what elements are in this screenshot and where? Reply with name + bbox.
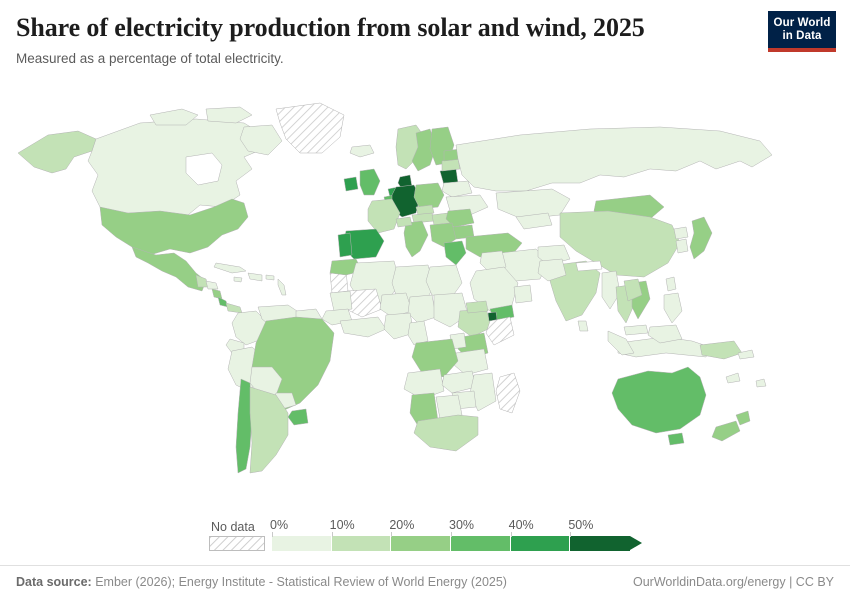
legend-bin-5[interactable] xyxy=(570,536,630,551)
legend-tick-mark-4 xyxy=(511,532,512,537)
country-cuba[interactable] xyxy=(214,263,246,273)
country-canada-arctic-2[interactable] xyxy=(206,107,252,123)
country-chile[interactable] xyxy=(236,379,252,473)
country-uruguay[interactable] xyxy=(288,409,308,425)
country-mauritania[interactable] xyxy=(330,291,352,311)
legend-tick-mark-5 xyxy=(570,532,571,537)
legend-no-data-label: No data xyxy=(211,520,255,534)
country-japan[interactable] xyxy=(690,217,712,259)
country-united-kingdom[interactable] xyxy=(360,169,380,195)
legend-color-bins xyxy=(272,536,630,551)
country-mexico[interactable] xyxy=(132,247,206,291)
legend-tick-mark-3 xyxy=(451,532,452,537)
country-hispaniola[interactable] xyxy=(248,273,262,281)
data-source-text: Ember (2026); Energy Institute - Statist… xyxy=(95,575,507,589)
country-nicaragua[interactable] xyxy=(212,289,222,299)
country-south-korea[interactable] xyxy=(676,239,688,253)
country-australia[interactable] xyxy=(612,367,706,433)
legend-bin-1[interactable] xyxy=(332,536,392,551)
legend-tick-label-5: 50% xyxy=(568,518,593,532)
country-kazakhstan[interactable] xyxy=(496,189,570,219)
owid-logo-line1: Our World xyxy=(772,17,832,30)
country-lesser-antilles[interactable] xyxy=(278,279,286,295)
country-oman[interactable] xyxy=(514,285,532,303)
legend-tick-label-4: 40% xyxy=(509,518,534,532)
country-new-zealand-south[interactable] xyxy=(712,421,740,441)
legend-tick-mark-0 xyxy=(272,532,273,537)
chart-subtitle: Measured as a percentage of total electr… xyxy=(16,50,834,67)
map-svg xyxy=(0,95,850,505)
world-choropleth-map[interactable] xyxy=(0,95,850,505)
chart-footer: Data source: Ember (2026); Energy Instit… xyxy=(0,565,850,600)
legend-tick-label-3: 30% xyxy=(449,518,474,532)
owid-logo-line2: in Data xyxy=(772,30,832,43)
country-eritrea[interactable] xyxy=(466,301,488,313)
country-chad[interactable] xyxy=(408,295,436,323)
legend-bin-2[interactable] xyxy=(391,536,451,551)
legend-tick-label-1: 10% xyxy=(330,518,355,532)
owid-logo[interactable]: Our World in Data xyxy=(768,11,836,52)
legend-bin-3[interactable] xyxy=(451,536,511,551)
country-somalia[interactable] xyxy=(486,317,514,345)
country-madagascar[interactable] xyxy=(496,373,520,413)
legend-tick-mark-1 xyxy=(332,532,333,537)
country-honduras[interactable] xyxy=(206,281,218,289)
country-portugal[interactable] xyxy=(338,233,352,257)
country-greece[interactable] xyxy=(444,241,466,265)
country-austria[interactable] xyxy=(412,213,434,223)
data-source: Data source: Ember (2026); Energy Instit… xyxy=(16,575,507,589)
country-tasmania[interactable] xyxy=(668,433,684,445)
data-source-label: Data source: xyxy=(16,575,92,589)
country-sri-lanka[interactable] xyxy=(578,321,588,331)
country-egypt[interactable] xyxy=(426,265,462,297)
country-malaysia[interactable] xyxy=(624,325,648,335)
country-italy[interactable] xyxy=(404,221,428,257)
legend-tick-label-2: 20% xyxy=(389,518,414,532)
legend-tick-label-0: 0% xyxy=(270,518,288,532)
country-cameroon[interactable] xyxy=(408,321,428,345)
country-france[interactable] xyxy=(368,199,400,233)
attribution-link[interactable]: OurWorldinData.org/energy | CC BY xyxy=(633,575,834,589)
country-greenland[interactable] xyxy=(276,103,344,153)
country-fiji[interactable] xyxy=(756,379,766,387)
country-ireland[interactable] xyxy=(344,177,358,191)
country-north-korea[interactable] xyxy=(674,227,688,239)
legend-open-ended-arrow xyxy=(630,536,642,550)
country-belarus[interactable] xyxy=(442,181,472,197)
country-philippines[interactable] xyxy=(664,293,682,323)
chart-header: Share of electricity production from sol… xyxy=(16,12,834,67)
country-taiwan[interactable] xyxy=(666,277,676,291)
no-data-hatch-icon xyxy=(210,537,264,550)
country-panama[interactable] xyxy=(226,303,242,313)
legend-bin-0[interactable] xyxy=(272,536,332,551)
country-switzerland[interactable] xyxy=(396,217,412,227)
country-puerto-rico[interactable] xyxy=(266,275,274,280)
map-legend: No data 0%10%20%30%40%50% xyxy=(0,508,850,556)
country-russia[interactable] xyxy=(456,127,772,191)
legend-bin-4[interactable] xyxy=(511,536,571,551)
map-countries xyxy=(18,103,772,473)
page-title: Share of electricity production from sol… xyxy=(16,12,834,44)
country-iceland[interactable] xyxy=(350,145,374,157)
country-new-zealand[interactable] xyxy=(736,411,750,425)
chart-root: Share of electricity production from sol… xyxy=(0,0,850,600)
country-nepal[interactable] xyxy=(576,261,602,271)
country-jamaica[interactable] xyxy=(234,277,242,282)
legend-tick-mark-2 xyxy=(391,532,392,537)
country-poland[interactable] xyxy=(414,183,444,209)
country-south-africa[interactable] xyxy=(414,415,478,451)
country-alaska[interactable] xyxy=(18,131,96,173)
legend-no-data-swatch[interactable] xyxy=(209,536,265,551)
country-new-caledonia[interactable] xyxy=(726,373,740,383)
